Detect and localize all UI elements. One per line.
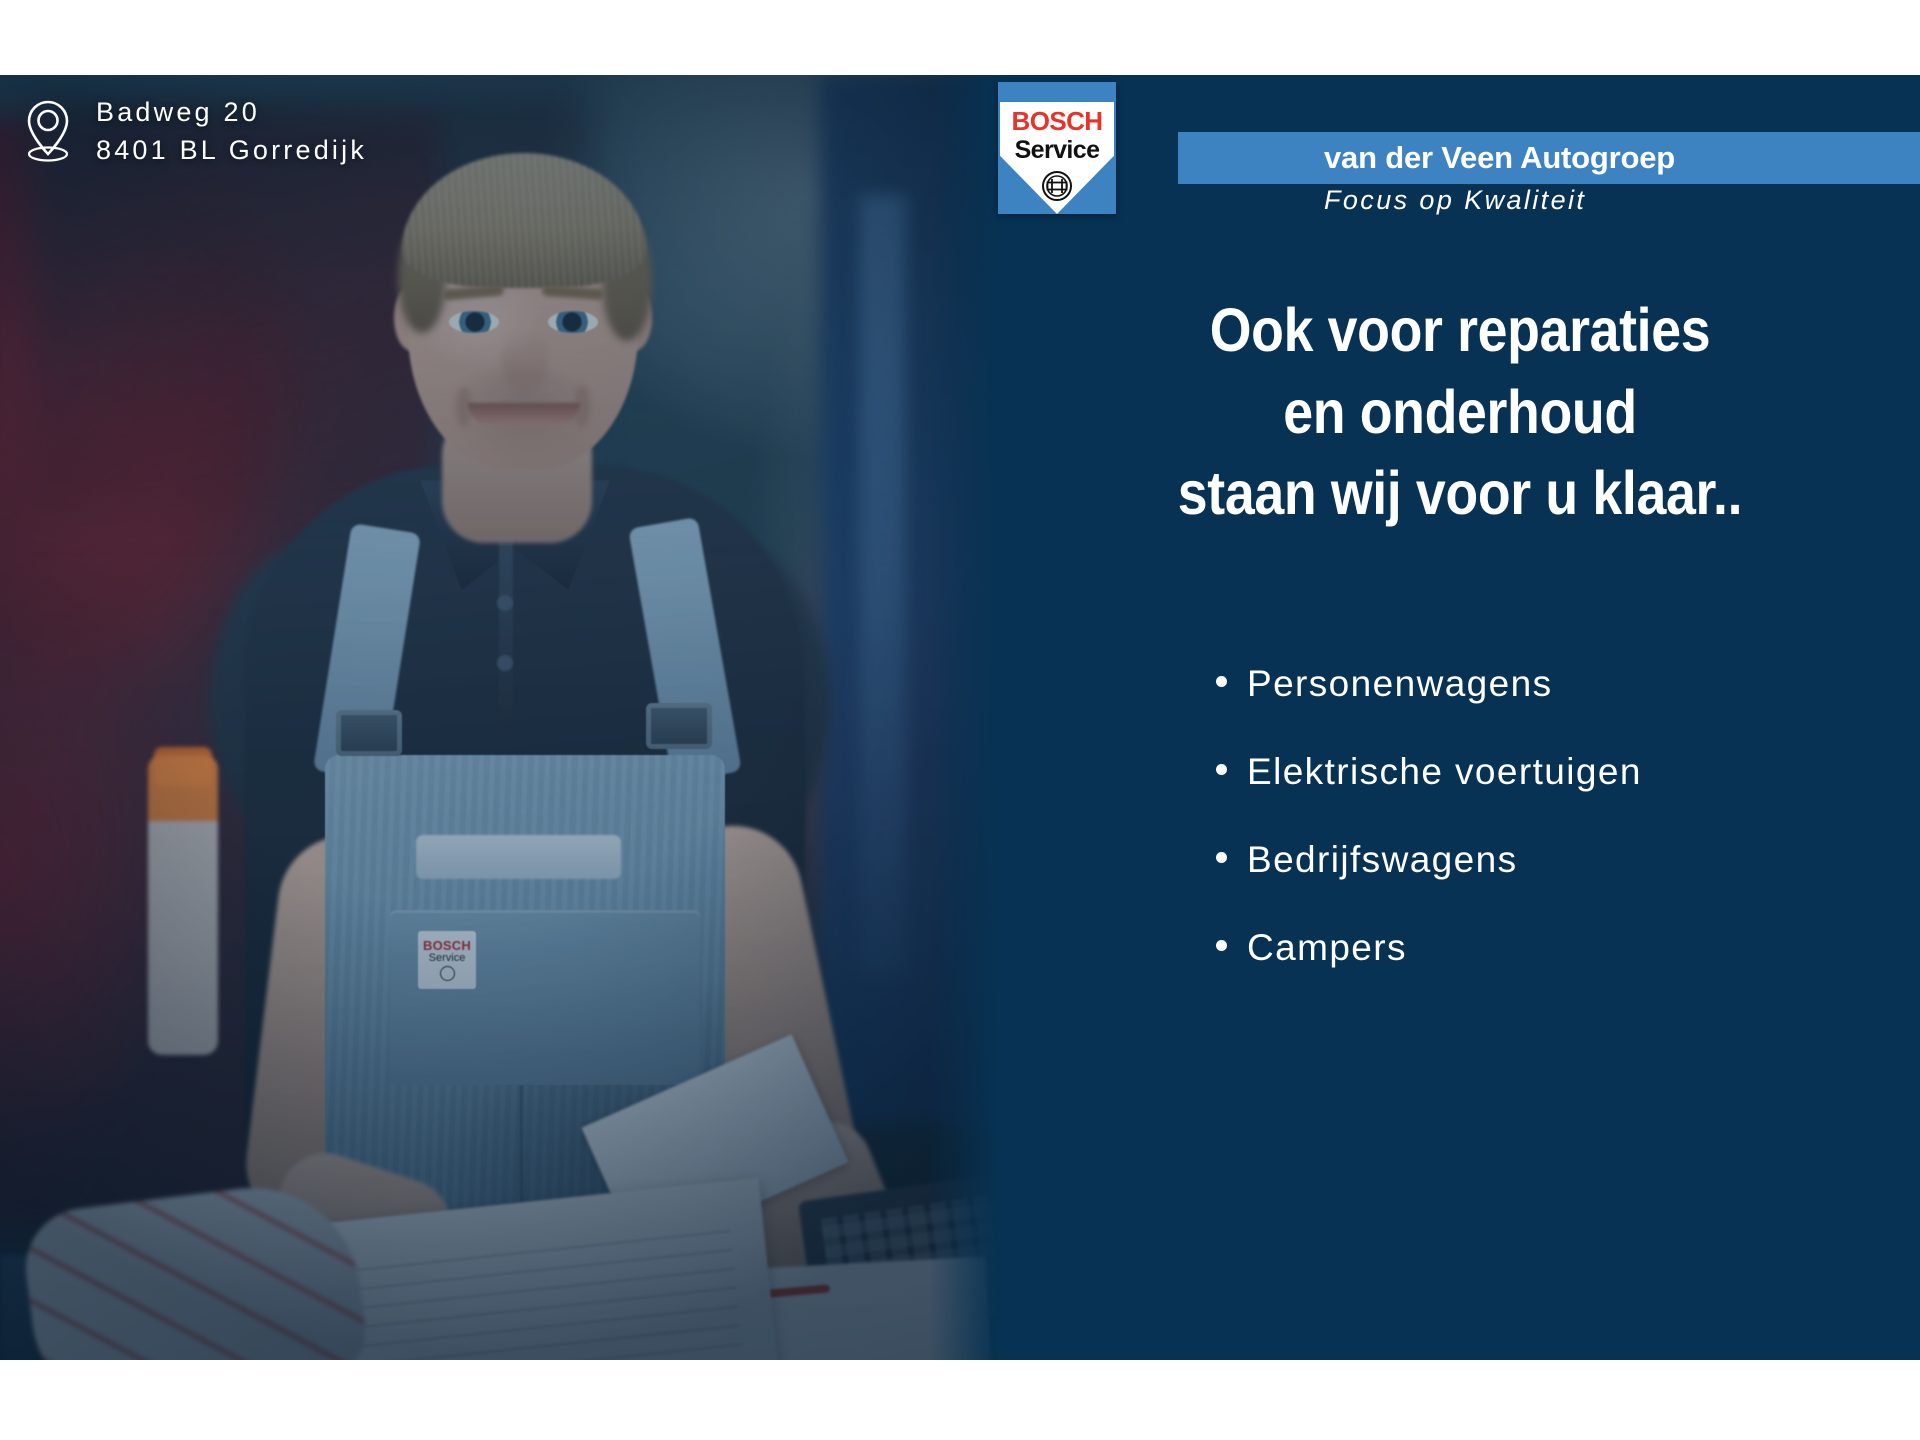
- address-text-block: Badweg 20 8401 BL Gorredijk: [96, 93, 367, 170]
- list-item: Personenwagens: [1216, 663, 1916, 705]
- list-item: Elektrische voertuigen: [1216, 751, 1916, 793]
- location-pin-icon: [22, 99, 74, 163]
- photo-vignette: [0, 75, 1000, 1360]
- service-label: Bedrijfswagens: [1247, 839, 1518, 881]
- poster-stage: BOSCH Service: [0, 75, 1920, 1360]
- company-name-band: van der Veen Autogroep: [1178, 132, 1920, 184]
- service-label: Elektrische voertuigen: [1247, 751, 1642, 793]
- service-label: Personenwagens: [1247, 663, 1553, 705]
- headline-line-2: en onderhoud: [1055, 372, 1865, 454]
- tagline: Focus op Kwaliteit: [1324, 185, 1586, 216]
- service-label: Campers: [1247, 927, 1407, 969]
- headline-line-1: Ook voor reparaties: [1055, 290, 1865, 372]
- photo-right-edge-blend: [930, 75, 1000, 1360]
- bullet-dot-icon: [1216, 764, 1227, 775]
- mechanic-photo: BOSCH Service: [0, 75, 1000, 1360]
- company-name: van der Veen Autogroep: [1324, 140, 1675, 176]
- bullet-dot-icon: [1216, 940, 1227, 951]
- headline: Ook voor reparaties en onderhoud staan w…: [1055, 290, 1865, 535]
- bosch-armature-icon: [1041, 170, 1073, 202]
- address-line-2: 8401 BL Gorredijk: [96, 131, 367, 169]
- address-line-1: Badweg 20: [96, 93, 367, 131]
- advertisement-poster: BOSCH Service: [0, 0, 1920, 1440]
- bosch-logo-service: Service: [998, 138, 1116, 163]
- info-panel: van der Veen Autogroep BOSCH Service Foc…: [1000, 75, 1920, 1360]
- list-item: Campers: [1216, 927, 1916, 969]
- list-item: Bedrijfswagens: [1216, 839, 1916, 881]
- bullet-dot-icon: [1216, 852, 1227, 863]
- address-overlay: Badweg 20 8401 BL Gorredijk: [22, 93, 367, 170]
- headline-line-3: staan wij voor u klaar..: [1055, 453, 1865, 535]
- bullet-dot-icon: [1216, 676, 1227, 687]
- bosch-service-logo: BOSCH Service: [998, 82, 1116, 214]
- services-list: Personenwagens Elektrische voertuigen Be…: [1216, 663, 1916, 1015]
- bosch-logo-brand: BOSCH: [998, 108, 1116, 134]
